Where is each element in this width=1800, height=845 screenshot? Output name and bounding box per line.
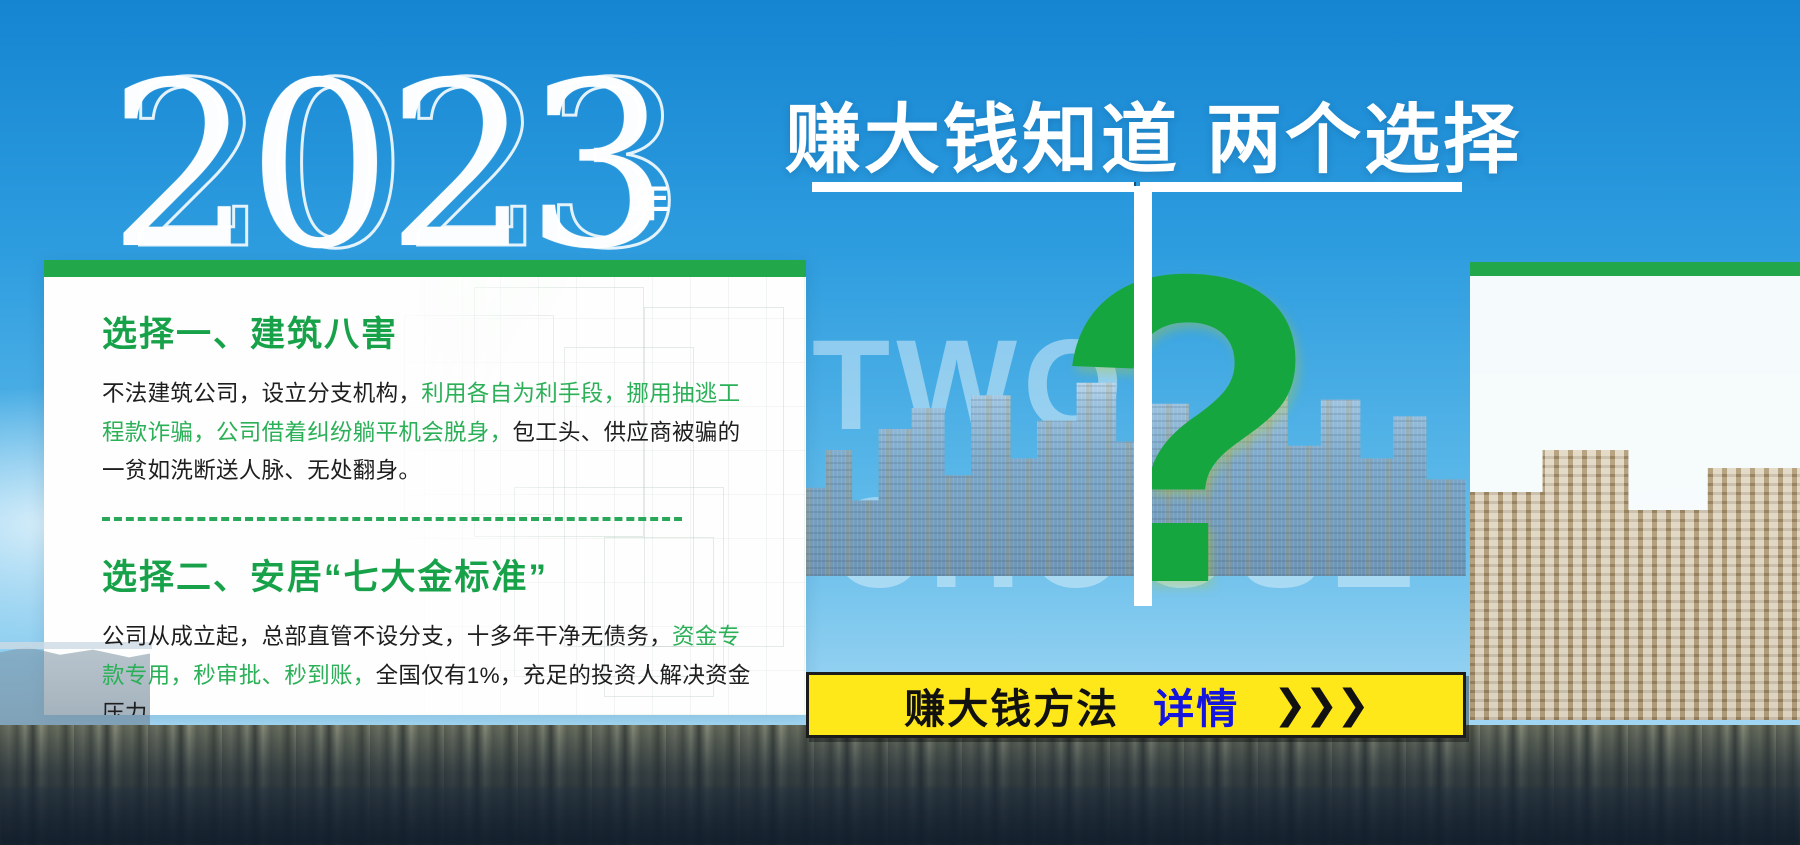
chevron-right-icon: ❯❯❯ xyxy=(1273,682,1368,728)
page-title: 赚大钱知道两个选择 xyxy=(785,78,1522,188)
section-two-body-part-1: 公司从成立起，总部直管不设分支，十多年干净无债务， xyxy=(102,624,672,649)
year-suffix-label: 年 xyxy=(630,170,670,228)
headline-left-text: 赚大钱知道 xyxy=(785,98,1180,183)
section-two-title: 选择二、安居“七大金标准” xyxy=(102,549,756,600)
section-divider xyxy=(102,517,682,521)
choice-visual-panel: TWO CHOOSE ? xyxy=(806,186,1466,676)
section-one-title: 选择一、建筑八害 xyxy=(102,306,756,357)
cta-button[interactable]: 赚大钱方法 详情 ❯❯❯ xyxy=(806,672,1466,738)
year-outline-ghost: 2023 xyxy=(124,52,680,280)
section-one-body: 不法建筑公司，设立分支机构，利用各自为利手段，挪用抽逃工程款诈骗，公司借着纠纷躺… xyxy=(102,375,756,491)
choices-card: 选择一、建筑八害 不法建筑公司，设立分支机构，利用各自为利手段，挪用抽逃工程款诈… xyxy=(44,260,806,715)
section-one-body-part-1: 不法建筑公司，设立分支机构， xyxy=(102,381,421,406)
question-mark-divider xyxy=(1134,186,1152,606)
waterfront-strip xyxy=(0,725,1800,845)
card-content: 选择一、建筑八害 不法建筑公司，设立分支机构，利用各自为利手段，挪用抽逃工程款诈… xyxy=(44,260,806,715)
promo-banner: 2023 2023 年 赚大钱知道两个选择 TWO CHOOSE ? 赚大钱方法… xyxy=(0,0,1800,845)
headline-right-text: 两个选择 xyxy=(1206,98,1522,183)
question-mark-icon: ? xyxy=(1052,210,1321,650)
year-graphic: 2023 2023 xyxy=(108,52,728,267)
section-two-body: 公司从成立起，总部直管不设分支，十多年干净无债务，资金专款专用，秒审批、秒到账，… xyxy=(102,618,756,715)
right-accent-bar xyxy=(1470,262,1800,276)
cta-main-label: 赚大钱方法 xyxy=(904,675,1119,735)
cta-link-label[interactable]: 详情 xyxy=(1153,675,1239,735)
